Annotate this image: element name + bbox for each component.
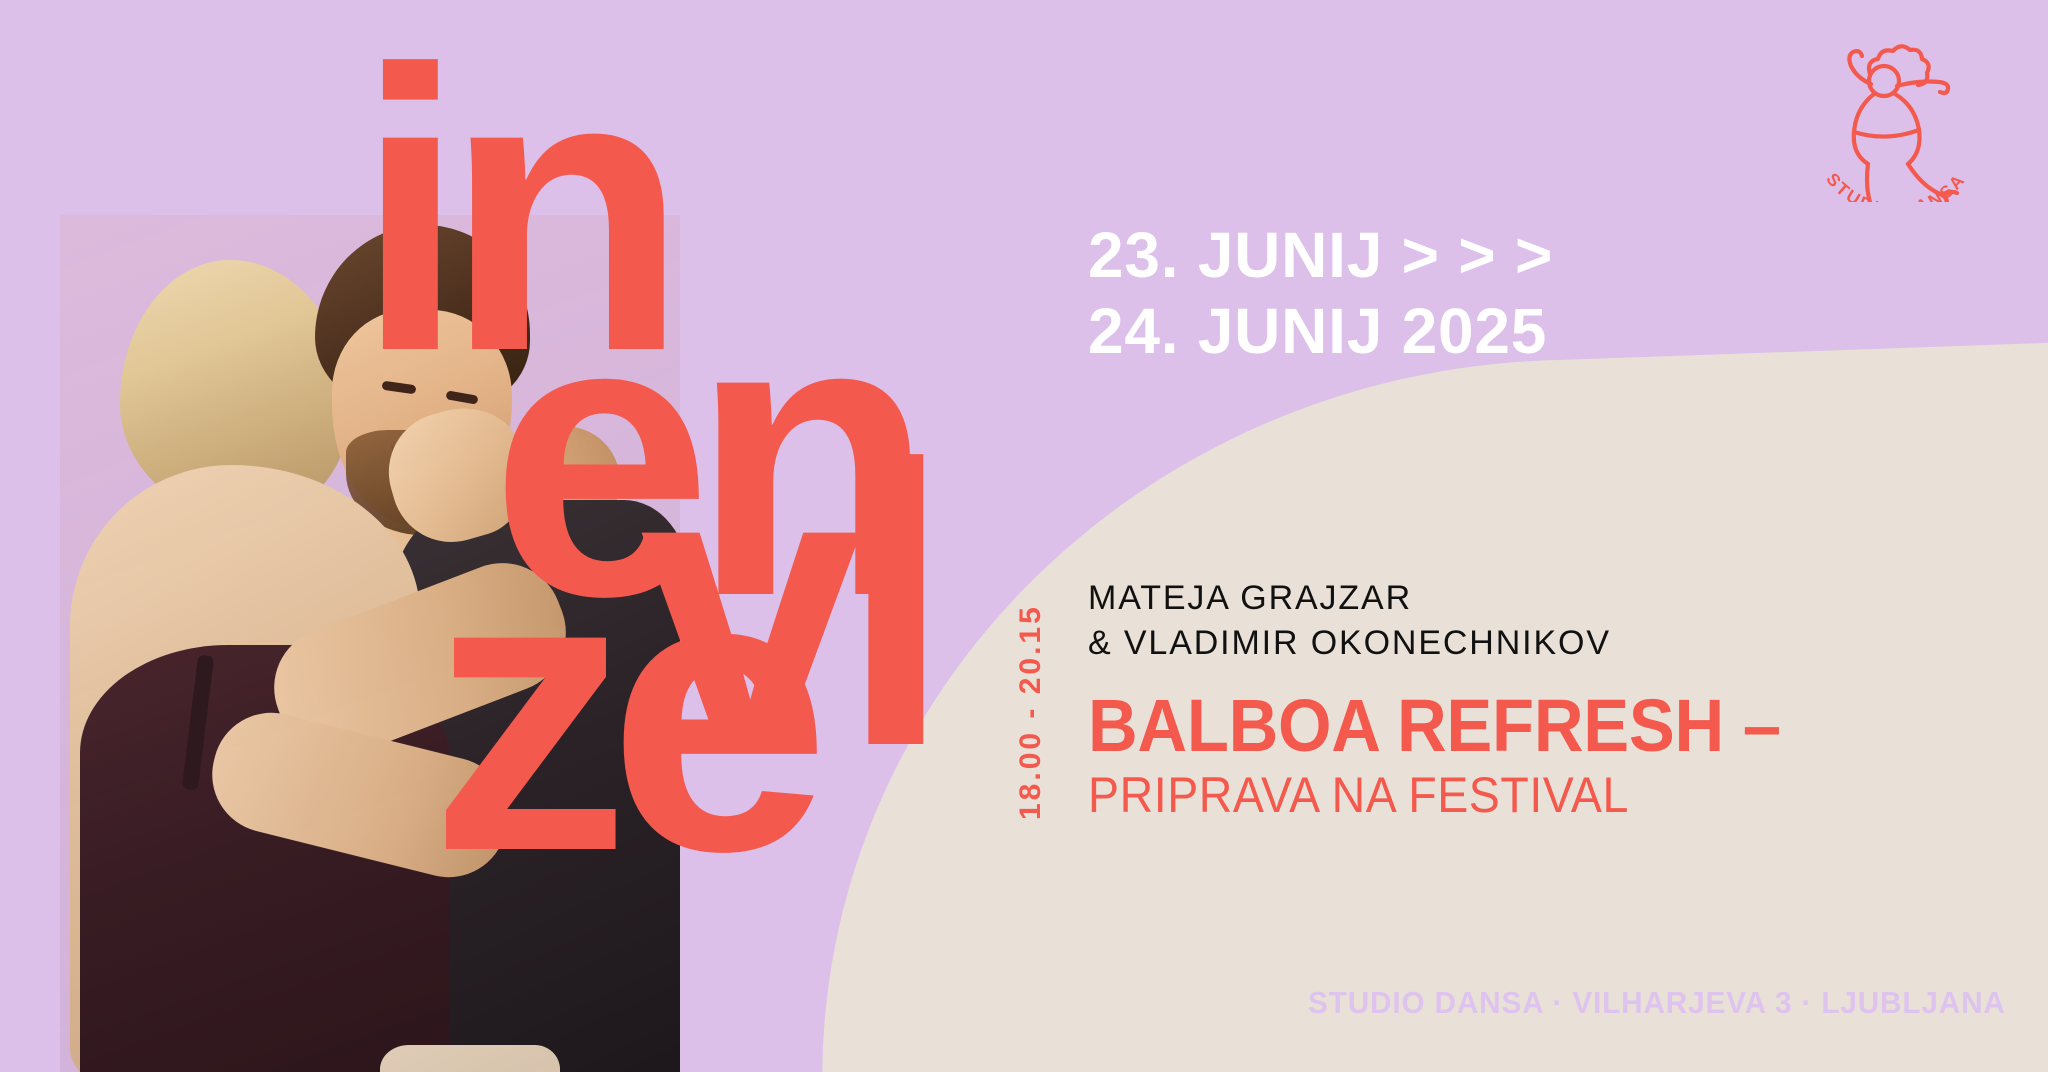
dancing-couple-photo — [60, 215, 680, 1072]
instructor-name-2: & VLADIMIR OKONECHNIKOV — [1088, 621, 1611, 666]
decorative-glyph-row3: vl — [640, 450, 930, 762]
photo-color-grade — [60, 215, 680, 1072]
event-time-vertical: 18.00 - 20.15 — [1014, 604, 1048, 820]
event-date-line-2: 24. JUNIJ 2025 — [1088, 294, 1553, 370]
venue-line: STUDIO DANSA · VILHARJEVA 3 · LJUBLJANA — [1308, 985, 2006, 1021]
logo-svg: STUDIO DANSA — [1796, 24, 1996, 202]
dancer-figure-icon — [1849, 46, 1957, 202]
instructor-name-1: MATEJA GRAJZAR — [1088, 576, 1611, 621]
workshop-subtitle: PRIPRAVA NA FESTIVAL — [1088, 766, 1629, 824]
studio-dansa-logo[interactable]: STUDIO DANSA — [1796, 24, 1996, 202]
poster-canvas: in en vl ze 23. JUNIJ > > > 24. JUNIJ 20… — [0, 0, 2048, 1072]
event-date-line-1: 23. JUNIJ > > > — [1088, 218, 1553, 294]
logo-arc-text: STUDIO DANSA — [1822, 169, 1969, 202]
workshop-title: BALBOA REFRESH – — [1088, 683, 1781, 768]
instructor-names: MATEJA GRAJZAR & VLADIMIR OKONECHNIKOV — [1088, 576, 1611, 666]
event-dates: 23. JUNIJ > > > 24. JUNIJ 2025 — [1088, 218, 1553, 369]
